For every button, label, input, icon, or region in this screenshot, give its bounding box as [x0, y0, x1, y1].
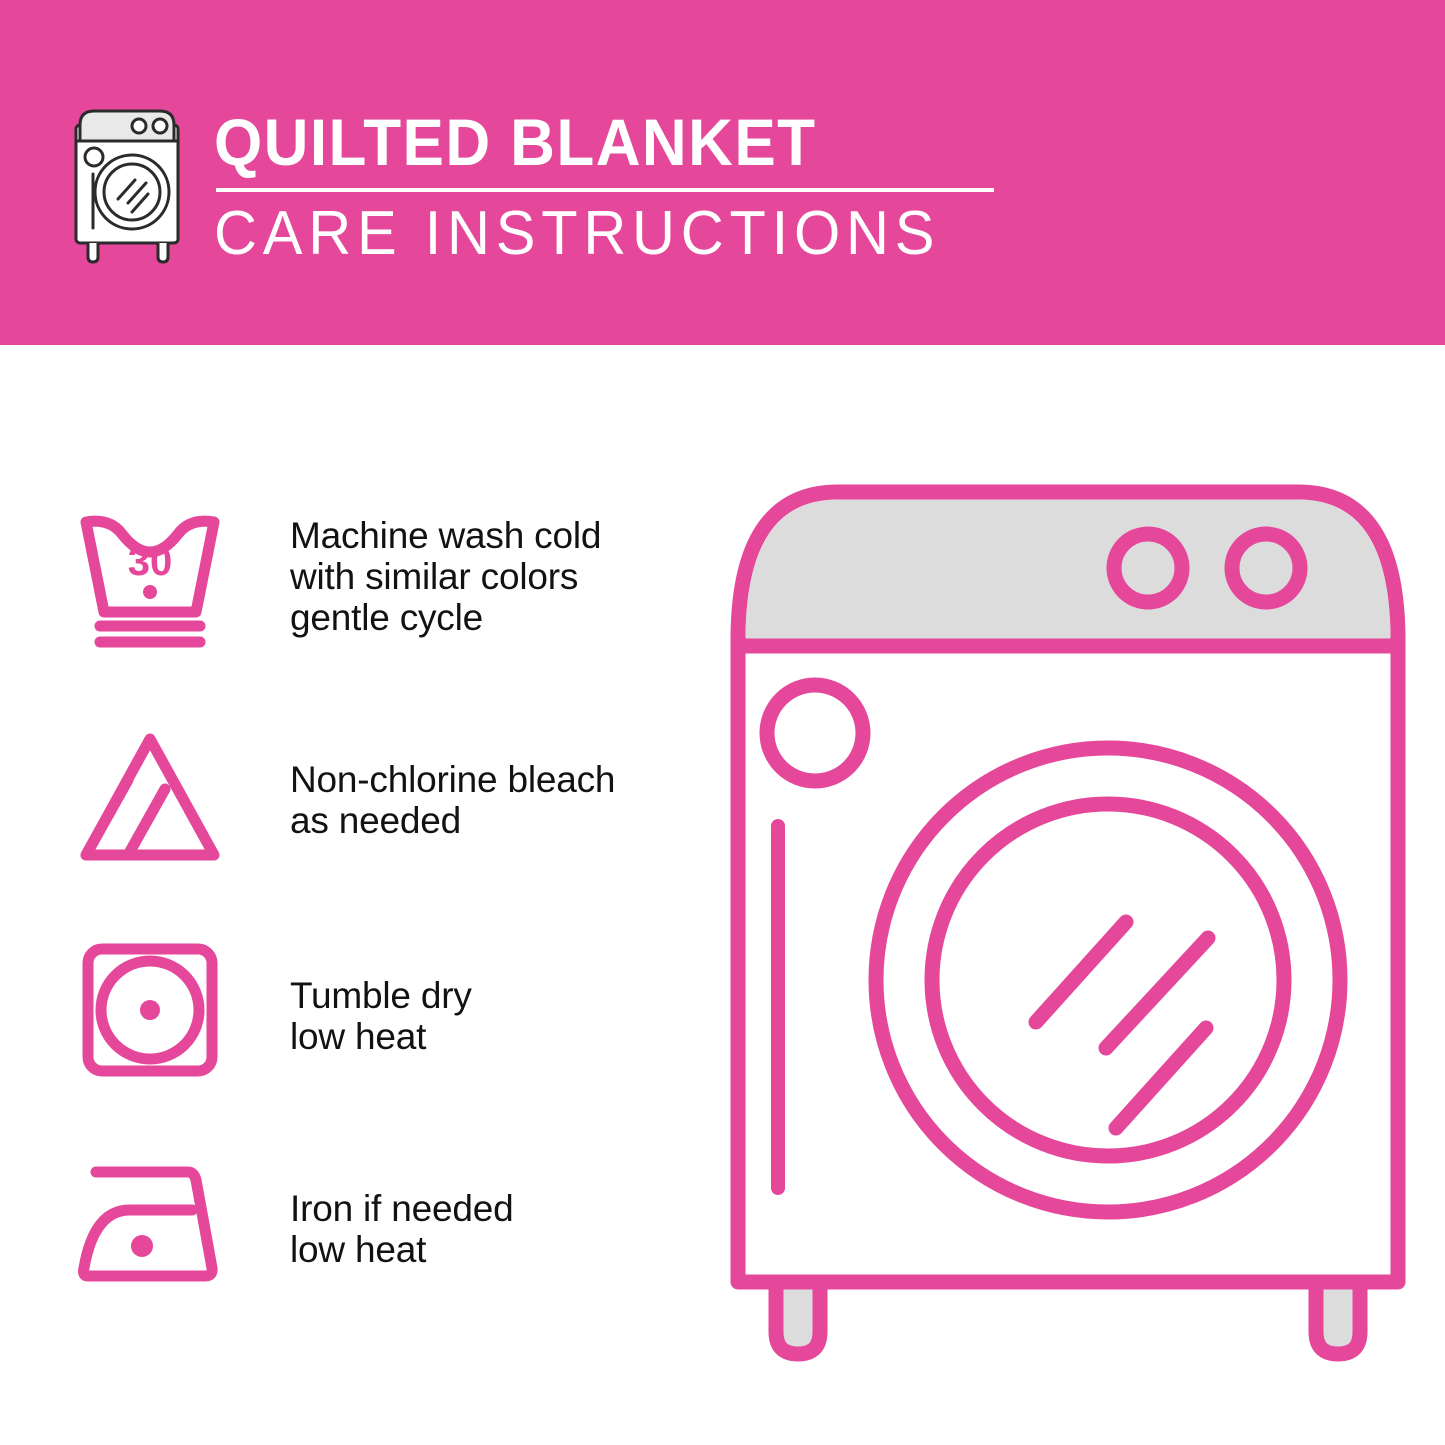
non-chlorine-bleach-triangle-icon: [70, 725, 230, 865]
care-item-wash: 30 Machine wash cold with similar colors…: [70, 500, 601, 650]
washing-machine-illustration: [718, 470, 1418, 1370]
care-item-bleach: Non-chlorine bleach as needed: [70, 725, 615, 865]
wash-tub-30-icon: 30: [70, 500, 230, 650]
washer-door-inner: [932, 804, 1284, 1156]
page-title: QUILTED BLANKET: [214, 106, 947, 178]
care-item-text: Machine wash cold with similar colors ge…: [290, 515, 601, 638]
care-instruction-list: 30 Machine wash cold with similar colors…: [0, 345, 700, 1445]
iron-low-heat-icon: [70, 1150, 230, 1290]
page-subtitle: CARE INSTRUCTIONS: [214, 200, 963, 268]
washer-leg-right: [1316, 1282, 1360, 1354]
tumble-dry-low-icon: [70, 937, 230, 1082]
header-banner: QUILTED BLANKET CARE INSTRUCTIONS: [0, 0, 1445, 345]
care-item-iron: Iron if needed low heat: [70, 1150, 513, 1290]
care-item-text: Tumble dry low heat: [290, 975, 472, 1057]
washer-knob-2: [1232, 534, 1300, 602]
washing-machine-icon: [62, 100, 192, 260]
header-content: QUILTED BLANKET CARE INSTRUCTIONS: [62, 100, 994, 268]
care-item-text: Iron if needed low heat: [290, 1188, 513, 1270]
washer-knob-1: [1114, 534, 1182, 602]
washer-leg-left: [776, 1282, 820, 1354]
title-divider: [216, 188, 994, 192]
wash-temperature-label: 30: [128, 540, 173, 584]
care-item-text: Non-chlorine bleach as needed: [290, 759, 615, 841]
header-title-group: QUILTED BLANKET CARE INSTRUCTIONS: [214, 100, 994, 268]
care-instructions-page: QUILTED BLANKET CARE INSTRUCTIONS 30: [0, 0, 1445, 1445]
washer-indicator-circle: [767, 685, 863, 781]
care-item-tumble-dry: Tumble dry low heat: [70, 937, 472, 1082]
